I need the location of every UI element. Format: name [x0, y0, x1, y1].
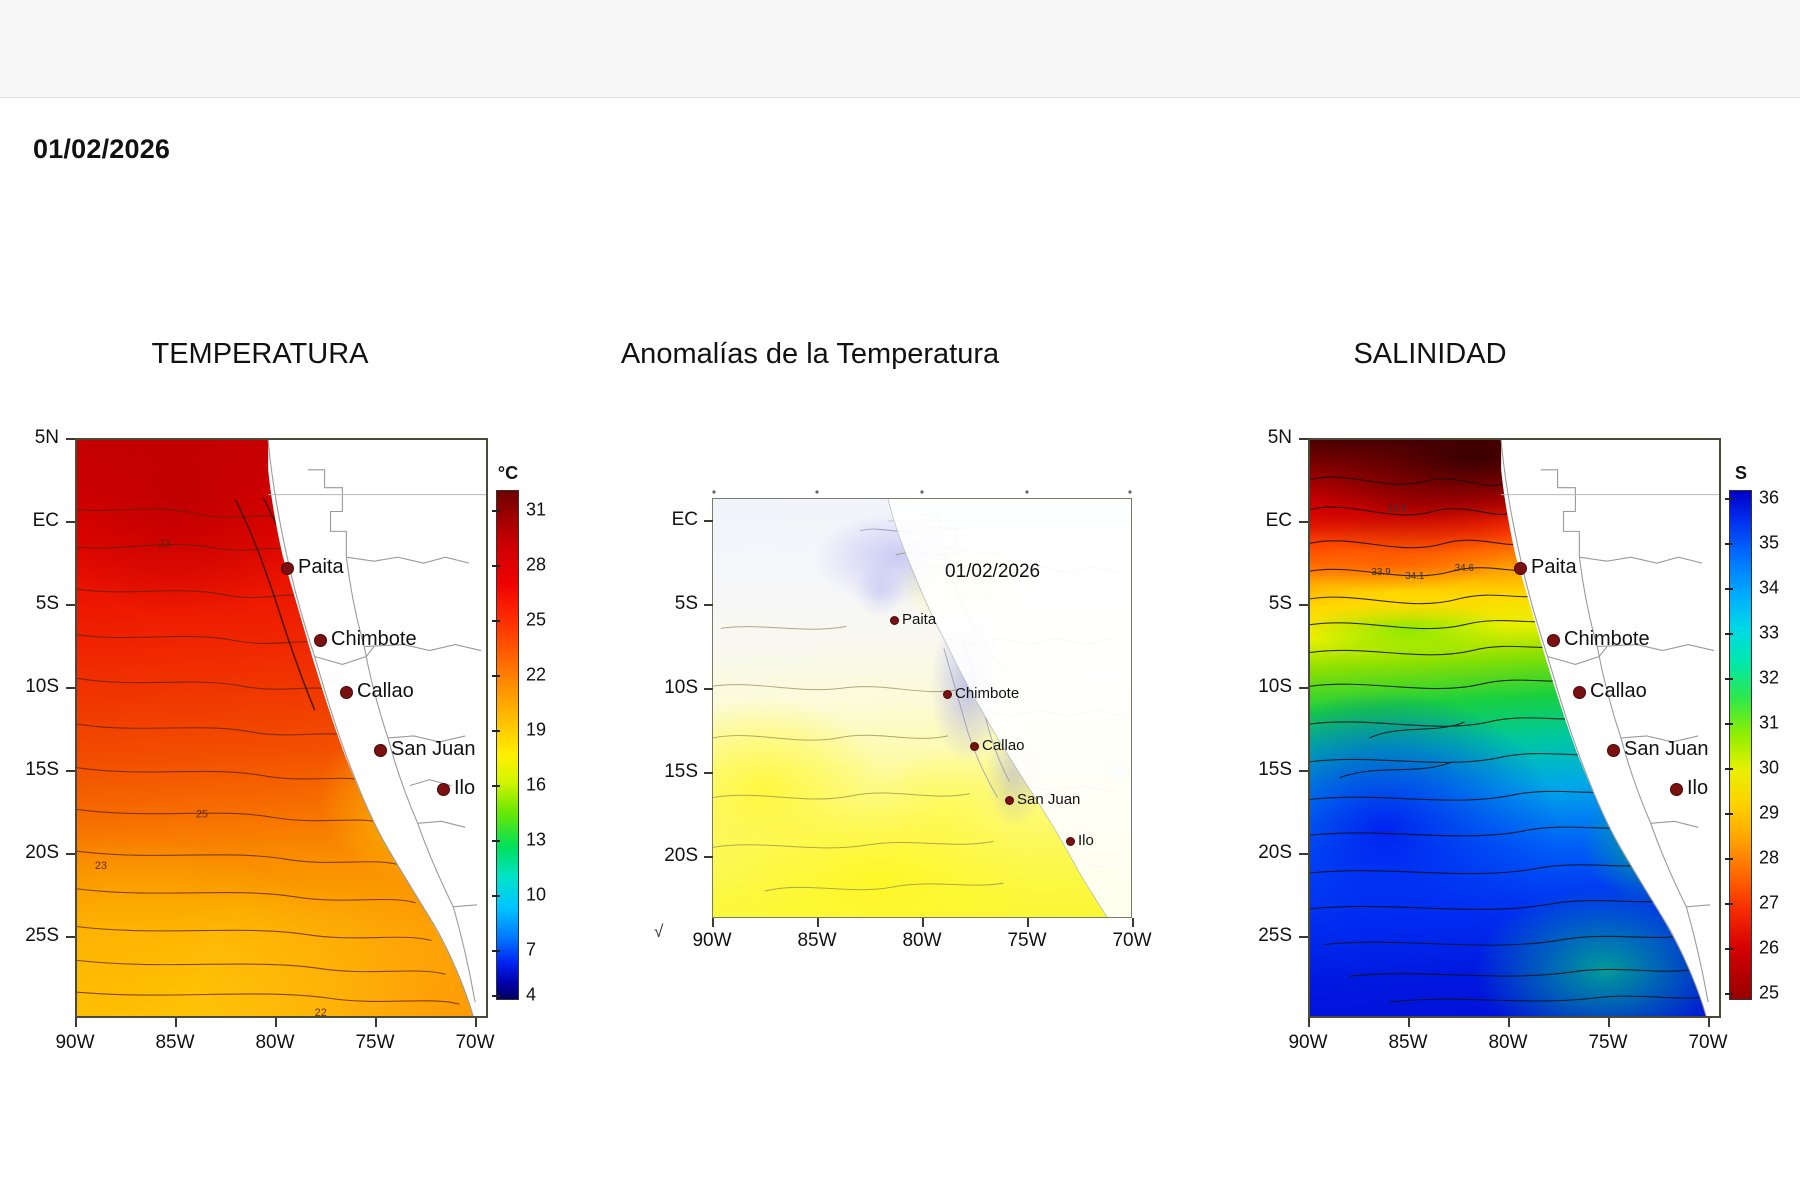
city-dot-icon	[1005, 796, 1014, 805]
xlabel-a-85w: 85W	[777, 930, 857, 952]
ylabel-s-20s: 20S	[1228, 842, 1292, 864]
xtick-4	[475, 1018, 477, 1027]
ytick-s6	[1299, 936, 1308, 938]
xlabel-a-80w: 80W	[882, 930, 962, 952]
xtick-s2	[1508, 1018, 1510, 1027]
cblabel-29: 29	[1759, 803, 1779, 824]
cbtick-s7	[1725, 813, 1733, 815]
city-label: Chimbote	[955, 685, 1019, 702]
city-label: Ilo	[1078, 832, 1094, 849]
cbtick-4	[492, 730, 500, 732]
xlabel-80w: 80W	[235, 1032, 315, 1054]
cbtick-s8	[1725, 858, 1733, 860]
city-dot-icon	[314, 634, 327, 647]
cbtick-2	[492, 620, 500, 622]
ytick-1	[66, 521, 75, 523]
xlabel-s-80w: 80W	[1468, 1032, 1548, 1054]
land-mask-anomaly	[713, 499, 1131, 917]
ytick-2	[66, 604, 75, 606]
city-label: Chimbote	[331, 628, 417, 651]
city-label: Ilo	[1687, 777, 1708, 800]
cblabel-25: 25	[1759, 983, 1779, 1004]
xlabel-75w: 75W	[335, 1032, 415, 1054]
ytick-4	[66, 770, 75, 772]
panel-title-anomalias: Anomalías de la Temperatura	[560, 338, 1060, 371]
xtick-a3	[1027, 918, 1029, 927]
cblabel-31: 31	[526, 500, 546, 521]
xlabel-a-75w: 75W	[987, 930, 1067, 952]
city-label: Callao	[1590, 680, 1647, 703]
city-label: Callao	[982, 737, 1025, 754]
cbtick-6	[492, 840, 500, 842]
cblabel-32: 32	[1759, 668, 1779, 689]
city-label: San Juan	[391, 738, 476, 761]
city-dot-icon	[281, 562, 294, 575]
ylabel-20s: 20S	[0, 842, 59, 864]
land-mask-peru	[77, 440, 486, 1016]
cblabel-30: 30	[1759, 758, 1779, 779]
cblabel-25: 25	[526, 610, 546, 631]
ylabel-s-5s: 5S	[1228, 593, 1292, 615]
city-label: Paita	[298, 556, 344, 579]
ylabel-25s: 25S	[0, 925, 59, 947]
map-salinidad[interactable]: 33.5 33.9 34.1 34.6	[1308, 438, 1721, 1018]
cbtick-3	[492, 675, 500, 677]
city-label: San Juan	[1017, 791, 1080, 808]
ytick-s2	[1299, 604, 1308, 606]
cblabel-31: 31	[1759, 713, 1779, 734]
cbtick-0	[492, 510, 500, 512]
ylabel-15s: 15S	[0, 759, 59, 781]
xtick-a2	[922, 918, 924, 927]
cblabel-36: 36	[1759, 488, 1779, 509]
cblabel-26: 26	[1759, 938, 1779, 959]
city-label: Paita	[1531, 556, 1577, 579]
ytick-s1	[1299, 521, 1308, 523]
xlabel-a-90w: 90W	[672, 930, 752, 952]
cblabel-27: 27	[1759, 893, 1779, 914]
cblabel-7: 7	[526, 940, 536, 961]
city-dot-icon	[970, 742, 979, 751]
ytick-a3	[704, 772, 713, 774]
ytick-a2	[704, 688, 713, 690]
cbtick-s2	[1725, 588, 1733, 590]
top-gridline-dots	[712, 486, 1132, 498]
ylabel-a-5s: 5S	[638, 593, 698, 615]
cbtick-s10	[1725, 948, 1733, 950]
ylabel-a-15s: 15S	[638, 761, 698, 783]
top-toolbar-strip	[0, 0, 1800, 98]
xtick-s1	[1408, 1018, 1410, 1027]
ylabel-5n: 5N	[0, 427, 59, 449]
city-dot-icon	[1670, 783, 1683, 796]
cblabel-35: 35	[1759, 533, 1779, 554]
xtick-a4	[1132, 918, 1134, 927]
xlabel-a-70w: 70W	[1092, 930, 1172, 952]
cbtick-s6	[1725, 768, 1733, 770]
city-dot-icon	[890, 616, 899, 625]
ytick-6	[66, 936, 75, 938]
xlabel-s-75w: 75W	[1568, 1032, 1648, 1054]
cbtick-9	[492, 995, 500, 997]
colorbar-salinity[interactable]: 36 35 34 33 32 31 30 29 28 27 26 25	[1729, 490, 1752, 1000]
cbtick-s9	[1725, 903, 1733, 905]
xtick-a1	[817, 918, 819, 927]
cbtick-s4	[1725, 678, 1733, 680]
ytick-3	[66, 687, 75, 689]
xlabel-85w: 85W	[135, 1032, 215, 1054]
city-dot-icon	[1607, 744, 1620, 757]
map-frame-salinidad: 33.5 33.9 34.1 34.6	[1308, 438, 1721, 1018]
xtick-0	[75, 1018, 77, 1027]
city-dot-icon	[1514, 562, 1527, 575]
map-frame-temperatura: 23 25 23 22	[75, 438, 488, 1018]
city-dot-icon	[437, 783, 450, 796]
city-dot-icon	[1547, 634, 1560, 647]
ylabel-10s: 10S	[0, 676, 59, 698]
city-label: San Juan	[1624, 738, 1709, 761]
ytick-s0	[1299, 438, 1308, 440]
xlabel-s-85w: 85W	[1368, 1032, 1448, 1054]
map-temperatura[interactable]: 23 25 23 22	[75, 438, 488, 1018]
ytick-0	[66, 438, 75, 440]
cblabel-10: 10	[526, 885, 546, 906]
ylabel-5s: 5S	[0, 593, 59, 615]
city-dot-icon	[943, 690, 952, 699]
slide-date-label: 01/02/2026	[33, 134, 170, 165]
city-dot-icon	[374, 744, 387, 757]
city-label: Callao	[357, 680, 414, 703]
xtick-s4	[1708, 1018, 1710, 1027]
city-label: Ilo	[454, 777, 475, 800]
ylabel-s-10s: 10S	[1228, 676, 1292, 698]
xtick-2	[275, 1018, 277, 1027]
cblabel-13: 13	[526, 830, 546, 851]
xtick-s0	[1308, 1018, 1310, 1027]
ylabel-s-25s: 25S	[1228, 925, 1292, 947]
corner-check-mark: √	[654, 922, 663, 942]
xlabel-90w: 90W	[35, 1032, 115, 1054]
ylabel-s-5n: 5N	[1228, 427, 1292, 449]
xtick-1	[175, 1018, 177, 1027]
ylabel-a-ec: EC	[638, 509, 698, 531]
xlabel-s-70w: 70W	[1668, 1032, 1748, 1054]
colorbar-title-salinity: S	[1735, 463, 1747, 484]
ylabel-a-10s: 10S	[638, 677, 698, 699]
ylabel-s-ec: EC	[1228, 510, 1292, 532]
ytick-a1	[704, 604, 713, 606]
panel-title-salinidad: SALINIDAD	[1230, 338, 1630, 371]
city-dot-icon	[1573, 686, 1586, 699]
cbtick-8	[492, 950, 500, 952]
cbtick-s3	[1725, 633, 1733, 635]
ytick-a4	[704, 856, 713, 858]
ylabel-s-15s: 15S	[1228, 759, 1292, 781]
cbtick-7	[492, 895, 500, 897]
ytick-s4	[1299, 770, 1308, 772]
ytick-5	[66, 853, 75, 855]
ytick-a0	[704, 520, 713, 522]
colorbar-gradient	[1729, 490, 1752, 1000]
cbtick-s5	[1725, 723, 1733, 725]
map-anomalias[interactable]: 01/02/2026 EC 5S 10S 15S 20S 90W 85W 80W…	[712, 498, 1132, 918]
cbtick-s0	[1725, 498, 1733, 500]
map-frame-anomalias: 01/02/2026	[712, 498, 1132, 918]
ytick-s3	[1299, 687, 1308, 689]
cblabel-22: 22	[526, 665, 546, 686]
cblabel-33: 33	[1759, 623, 1779, 644]
city-dot-icon	[340, 686, 353, 699]
xtick-s3	[1608, 1018, 1610, 1027]
city-label: Paita	[902, 611, 936, 628]
city-dot-icon	[1066, 837, 1075, 846]
cblabel-28: 28	[526, 555, 546, 576]
land-mask-peru-salinity	[1310, 440, 1719, 1016]
xlabel-s-90w: 90W	[1268, 1032, 1348, 1054]
colorbar-temperature[interactable]: 31 28 25 22 19 16 13 10 7 4	[496, 490, 519, 1000]
xtick-a0	[712, 918, 714, 927]
xtick-3	[375, 1018, 377, 1027]
city-label: Chimbote	[1564, 628, 1650, 651]
ylabel-a-20s: 20S	[638, 845, 698, 867]
cbtick-s1	[1725, 543, 1733, 545]
cblabel-28: 28	[1759, 848, 1779, 869]
cblabel-16: 16	[526, 775, 546, 796]
xlabel-70w: 70W	[435, 1032, 515, 1054]
panel-title-temperatura: TEMPERATURA	[60, 338, 460, 371]
ytick-s5	[1299, 853, 1308, 855]
cblabel-19: 19	[526, 720, 546, 741]
colorbar-title-temperature: °C	[498, 463, 518, 484]
slide-canvas: 01/02/2026 TEMPERATURA	[0, 98, 1800, 1200]
ylabel-ec: EC	[0, 510, 59, 532]
cbtick-s11	[1725, 993, 1733, 995]
cbtick-1	[492, 565, 500, 567]
anomaly-inmap-date: 01/02/2026	[945, 561, 1040, 583]
cblabel-4: 4	[526, 985, 536, 1006]
cblabel-34: 34	[1759, 578, 1779, 599]
cbtick-5	[492, 785, 500, 787]
